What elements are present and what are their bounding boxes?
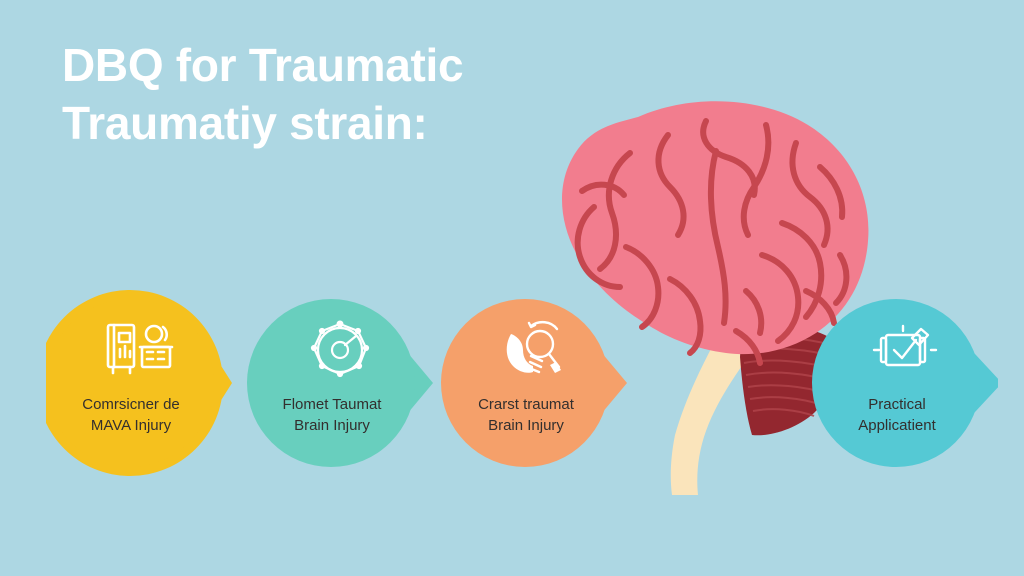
node-4-label: Practical Applicatient [818, 394, 976, 436]
node-1-label: Comrsicner de MAVA Injury [52, 394, 210, 436]
node-2-label-line-1: Flomet Taumat [253, 394, 411, 415]
node-2-label: Flomet Taumat Brain Injury [253, 394, 411, 436]
flow-node-1[interactable]: Comrsicner de MAVA Injury [46, 290, 232, 476]
node-4-label-line-1: Practical [818, 394, 976, 415]
flow-node-row: Comrsicner de MAVA Injury [0, 290, 1024, 480]
node-3-label-line-1: Crarst traumat [447, 394, 605, 415]
node-1-label-line-1: Comrsicner de [52, 394, 210, 415]
page-title: DBQ for Traumatic Traumatiy strain: [62, 36, 622, 152]
title-line-2: Traumatiy strain: [62, 94, 622, 152]
node-3-label-line-2: Brain Injury [447, 415, 605, 436]
node-4-shape [812, 290, 998, 476]
node-2-label-line-2: Brain Injury [253, 415, 411, 436]
node-3-shape [441, 290, 627, 476]
flow-node-2[interactable]: Flomet Taumat Brain Injury [247, 290, 433, 476]
flow-node-4[interactable]: Practical Applicatient [812, 290, 998, 476]
node-1-shape [46, 290, 232, 476]
node-4-label-line-2: Applicatient [818, 415, 976, 436]
flow-node-3[interactable]: Crarst traumat Brain Injury [441, 290, 627, 476]
infographic-canvas: DBQ for Traumatic Traumatiy strain: [0, 0, 1024, 576]
node-1-label-line-2: MAVA Injury [52, 415, 210, 436]
node-2-shape [247, 290, 433, 476]
title-line-1: DBQ for Traumatic [62, 36, 622, 94]
node-3-label: Crarst traumat Brain Injury [447, 394, 605, 436]
